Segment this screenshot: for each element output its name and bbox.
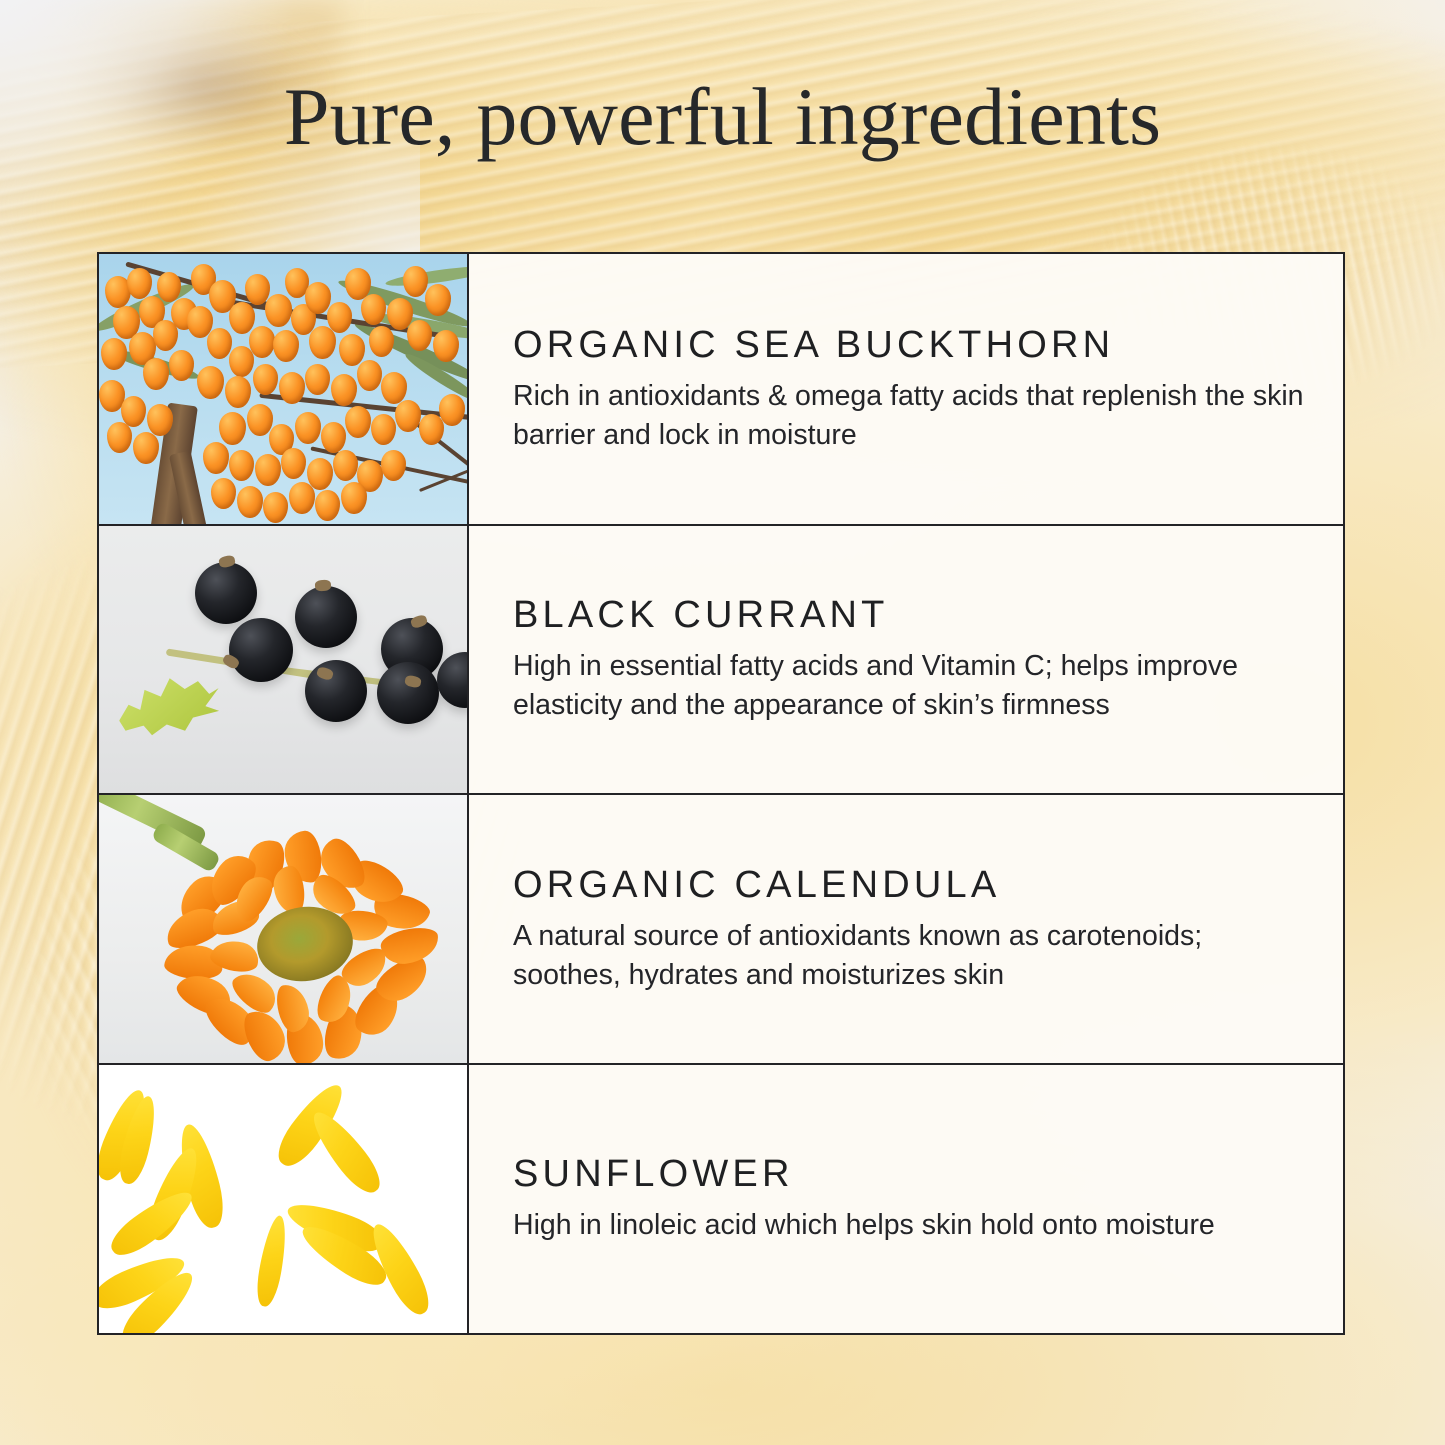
ingredient-name: BLACK CURRANT — [513, 594, 1309, 637]
ingredient-image-black-currant — [99, 526, 469, 793]
table-row: ORGANIC SEA BUCKTHORN Rich in antioxidan… — [99, 254, 1343, 526]
black-currant-photo — [99, 526, 467, 793]
ingredients-table: ORGANIC SEA BUCKTHORN Rich in antioxidan… — [97, 252, 1345, 1335]
ingredient-text-calendula: ORGANIC CALENDULA A natural source of an… — [469, 795, 1343, 1063]
ingredient-description: High in linoleic acid which helps skin h… — [513, 1206, 1309, 1245]
sea-buckthorn-photo — [99, 254, 467, 524]
ingredient-image-sunflower — [99, 1065, 469, 1333]
ingredient-text-sea-buckthorn: ORGANIC SEA BUCKTHORN Rich in antioxidan… — [469, 254, 1343, 524]
ingredient-name: SUNFLOWER — [513, 1153, 1309, 1196]
ingredient-name: ORGANIC SEA BUCKTHORN — [513, 324, 1309, 367]
ingredient-name: ORGANIC CALENDULA — [513, 864, 1309, 907]
ingredients-infographic: Pure, powerful ingredients — [0, 0, 1445, 1445]
ingredient-description: Rich in antioxidants & omega fatty acids… — [513, 377, 1309, 455]
ingredient-text-black-currant: BLACK CURRANT High in essential fatty ac… — [469, 526, 1343, 793]
ingredient-text-sunflower: SUNFLOWER High in linoleic acid which he… — [469, 1065, 1343, 1333]
ingredient-image-calendula — [99, 795, 469, 1063]
ingredient-description: A natural source of antioxidants known a… — [513, 917, 1309, 995]
table-row: BLACK CURRANT High in essential fatty ac… — [99, 526, 1343, 795]
sunflower-petals-photo — [99, 1065, 467, 1333]
ingredient-image-sea-buckthorn — [99, 254, 469, 524]
ingredient-description: High in essential fatty acids and Vitami… — [513, 647, 1309, 725]
table-row: ORGANIC CALENDULA A natural source of an… — [99, 795, 1343, 1065]
calendula-flower-photo — [99, 795, 467, 1063]
page-title: Pure, powerful ingredients — [0, 76, 1445, 158]
table-row: SUNFLOWER High in linoleic acid which he… — [99, 1065, 1343, 1333]
